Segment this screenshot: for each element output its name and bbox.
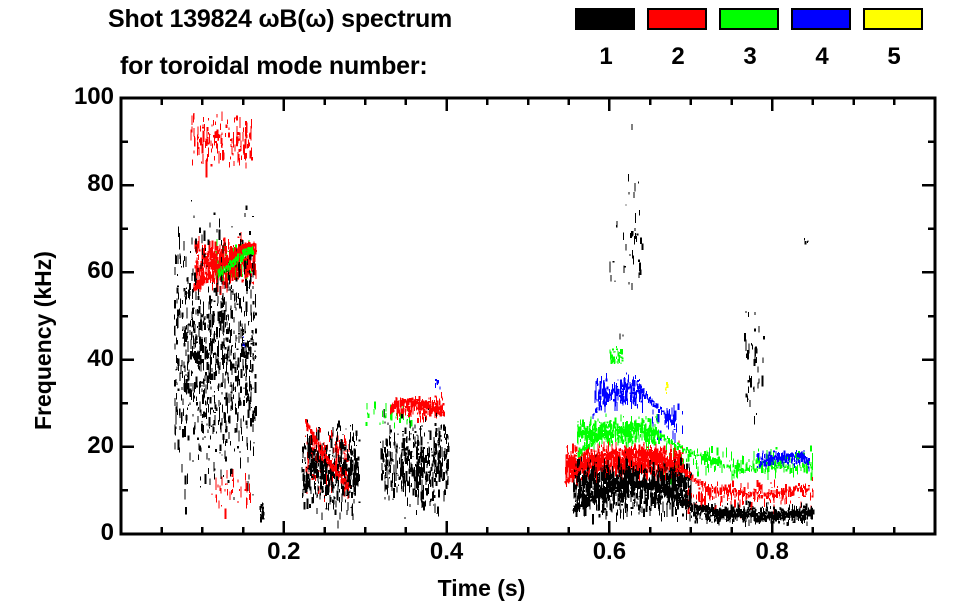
spectrogram-figure: Shot 139824 ωB(ω) spectrum for toroidal … xyxy=(0,0,963,615)
axis-frame xyxy=(121,98,935,534)
plot-canvas xyxy=(0,0,963,615)
data-marks-layer xyxy=(174,111,815,528)
